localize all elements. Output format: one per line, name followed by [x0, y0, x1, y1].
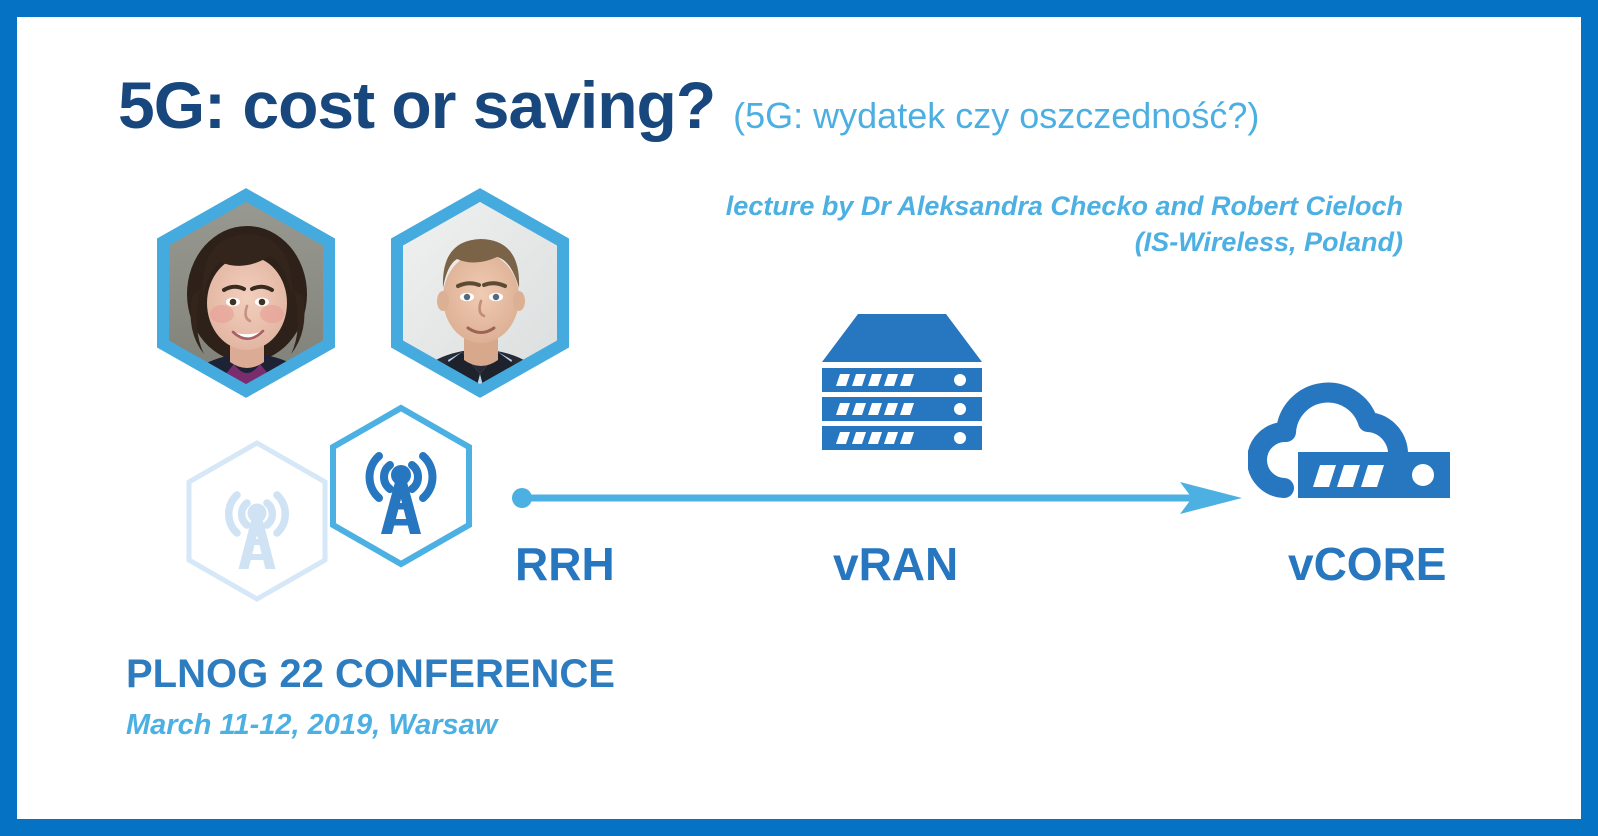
title-polish: (5G: wydatek czy oszczedność?) [733, 98, 1259, 134]
antenna-tower-icon-faded [177, 437, 337, 613]
credit-speakers: lecture by Dr Aleksandra Checko and Robe… [583, 188, 1403, 224]
node-label-rrh: RRH [515, 541, 615, 587]
conference-name: PLNOG 22 CONFERENCE [126, 652, 615, 697]
credit-affiliation: (IS-Wireless, Poland) [583, 224, 1403, 260]
lecture-credit: lecture by Dr Aleksandra Checko and Robe… [583, 188, 1403, 260]
conference-promo-poster: 5G: cost or saving? (5G: wydatek czy osz… [0, 0, 1598, 836]
poster-content: 5G: cost or saving? (5G: wydatek czy osz… [0, 0, 1598, 836]
conference-date-location: March 11-12, 2019, Warsaw [126, 709, 615, 741]
antenna-tower-icon-active [321, 402, 481, 578]
node-label-vcore: vCORE [1288, 541, 1446, 587]
avatar-aleksandra-checko [148, 186, 344, 400]
avatar-robert-cieloch [382, 186, 578, 400]
footer: PLNOG 22 CONFERENCE March 11-12, 2019, W… [126, 652, 615, 741]
node-label-vran: vRAN [833, 541, 958, 587]
title-english: 5G: cost or saving? [118, 72, 715, 138]
page-title: 5G: cost or saving? (5G: wydatek czy osz… [118, 72, 1259, 138]
cloud-server-icon [1248, 370, 1460, 520]
arrow-right-icon [512, 478, 1242, 518]
server-stack-icon [818, 312, 986, 457]
